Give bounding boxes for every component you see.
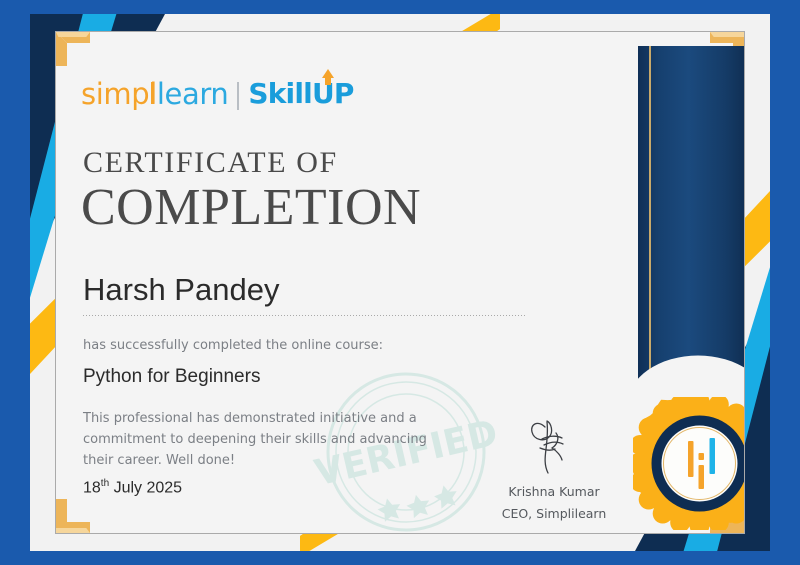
recipient-underline [83, 315, 526, 316]
simplilearn-skillup-logo: simpl learn SkillUP [81, 80, 354, 110]
certificate-title-line1: CERTIFICATE OF [83, 146, 338, 180]
issue-date: 18th July 2025 [83, 478, 182, 497]
logo-simpli-text: simpl [81, 80, 157, 109]
issue-date-ordinal: th [101, 478, 109, 489]
signatory-name: Krishna Kumar [479, 484, 629, 499]
signatory-role: CEO, Simplilearn [479, 506, 629, 521]
logo-learn-text: learn [157, 77, 228, 111]
logo-divider [237, 82, 239, 110]
signature-block: Krishna Kumar CEO, Simplilearn [479, 415, 629, 521]
logo-skillup-text: SkillUP [248, 80, 353, 108]
completion-subline: has successfully completed the online co… [83, 338, 383, 353]
signature-mark [504, 415, 604, 477]
logo-tick-icon [151, 82, 154, 104]
issue-date-day: 18 [83, 479, 101, 496]
certificate-paper: VERIFIED simpl learn SkillUP [55, 31, 745, 534]
certificate-title-line2: COMPLETION [81, 178, 421, 237]
logo-learn-wrap: learn [157, 80, 228, 109]
up-arrow-stem-icon [325, 77, 331, 85]
issue-date-rest: July 2025 [109, 479, 182, 496]
course-name: Python for Beginners [83, 366, 260, 388]
certificate-content: simpl learn SkillUP CERTIFICATE OF COMPL… [81, 50, 744, 533]
certificate-blurb: This professional has demonstrated initi… [83, 408, 443, 471]
recipient-name: Harsh Pandey [83, 272, 279, 308]
certificate: VERIFIED simpl learn SkillUP [0, 0, 800, 565]
